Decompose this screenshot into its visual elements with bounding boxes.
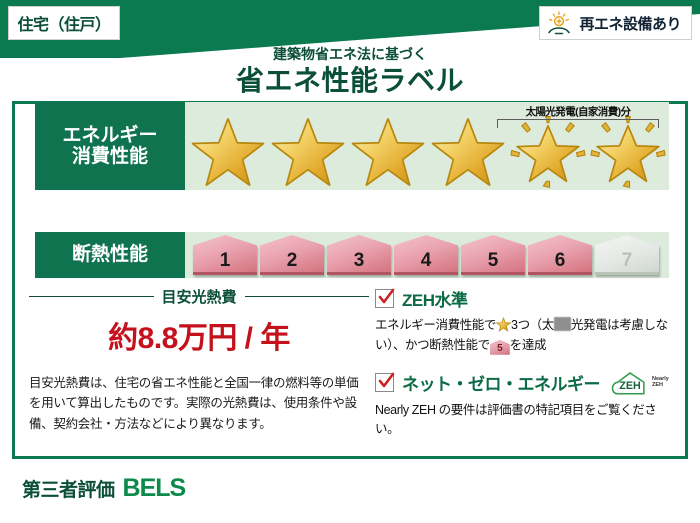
zeh-logo-sub: Nearly ZEH	[652, 377, 669, 389]
insulation-chip-4: 4	[394, 235, 458, 275]
net-zero-energy-block: ネット・ゼロ・エネルギー ZEH Nearly ZEH	[375, 370, 677, 441]
zeh-house-logo: ZEH Nearly ZEH	[610, 370, 669, 396]
solar-generation-note: 太陽光発電(自家消費)分	[493, 104, 663, 119]
inline-star-icon	[496, 317, 511, 332]
zeh-standard-checkbox[interactable]	[375, 289, 394, 308]
zeh-body-part3: を達成	[510, 338, 546, 352]
energy-performance-key: エネルギー 消費性能	[35, 102, 185, 190]
energy-performance-value: 太陽光発電(自家消費)分	[185, 102, 669, 190]
insulation-chip-7: 7	[595, 235, 659, 275]
zeh-standard-title: ZEH水準	[402, 286, 468, 311]
evaluation-info: 評価日 2026年3月6日 d05526cc-bf0a-4419	[552, 473, 688, 508]
check-icon	[377, 288, 395, 306]
rule-right	[245, 296, 370, 298]
zeh-body-part1: エネルギー消費性能で	[375, 318, 496, 332]
renewable-badge-label: 再エネ設備あり	[579, 13, 681, 34]
property-name: D-TOJO 202号室	[232, 479, 349, 499]
star-icon-solid-2	[269, 115, 347, 189]
utility-cost-column: 目安光熱費 約8.8万円 / 年 目安光熱費は、住宅の省エネ性能と全国一律の燃料…	[29, 286, 369, 434]
main-panel: エネルギー 消費性能 太陽光発電(自家消費)分	[12, 101, 688, 459]
utility-cost-note: 目安光熱費は、住宅の省エネ性能と全国一律の燃料等の単価を用いて算出したものです。…	[29, 373, 369, 434]
insulation-chip-1: 1	[193, 235, 257, 275]
rule-left	[29, 296, 154, 298]
redacted-character	[554, 317, 571, 331]
evaluation-date: 評価日 2026年3月6日	[552, 473, 688, 494]
solar-bracket	[497, 119, 659, 128]
energy-key-line1: エネルギー	[62, 125, 157, 146]
insulation-chip-5: 5	[461, 235, 525, 275]
star-icon-solid-3	[349, 115, 427, 189]
inline-insulation-chip: 5	[490, 340, 510, 355]
utility-cost-heading-label: 目安光熱費	[162, 286, 237, 307]
net-zero-checkbox[interactable]	[375, 373, 394, 392]
insulation-performance-value: 1 2 3 4 5 6 7	[185, 232, 669, 278]
insulation-performance-row: 断熱性能 1 2 3 4 5 6 7	[35, 224, 669, 286]
page-title: 省エネ性能ラベル	[0, 66, 700, 95]
label-title-block: 建築物省エネ法に基づく 省エネ性能ラベル	[0, 44, 700, 95]
insulation-chip-2: 2	[260, 235, 324, 275]
insulation-performance-key: 断熱性能	[35, 232, 185, 278]
zeh-logo-sub2: ZEH	[652, 382, 663, 388]
star-icon-solid-1	[189, 115, 267, 189]
renewable-equipment-badge: 再エネ設備あり	[539, 6, 692, 40]
zeh-standard-body: エネルギー消費性能で3つ（太光発電は考慮しない）、かつ断熱性能で5を達成	[375, 316, 677, 356]
bels-logo-text: BELS	[123, 474, 186, 503]
category-tab: 住宅（住戸）	[8, 6, 120, 40]
insulation-chip-3: 3	[327, 235, 391, 275]
energy-key-line2: 消費性能	[72, 146, 148, 167]
sun-solar-icon	[546, 11, 572, 35]
title-subtitle: 建築物省エネ法に基づく	[0, 44, 700, 64]
label-footer: 第三者評価 BELS D-TOJO 202号室 評価日 2026年3月6日 d0…	[0, 463, 700, 523]
check-icon	[377, 372, 395, 390]
details-section: 目安光熱費 約8.8万円 / 年 目安光熱費は、住宅の省エネ性能と全国一律の燃料…	[15, 286, 691, 456]
bels-jp-label: 第三者評価	[22, 475, 115, 502]
zeh-house-icon: ZEH	[610, 370, 650, 396]
evaluation-id: d05526cc-bf0a-4419	[552, 496, 688, 508]
insulation-grade-chips: 1 2 3 4 5 6 7	[185, 235, 659, 275]
zeh-body-star-count: 3つ（太	[511, 318, 554, 332]
insulation-chip-6: 6	[528, 235, 592, 275]
net-zero-title: ネット・ゼロ・エネルギー	[402, 370, 600, 395]
zeh-standard-header: ZEH水準	[375, 286, 677, 311]
svg-text:ZEH: ZEH	[619, 380, 641, 392]
energy-performance-label: 住宅（住戸） 再エネ設備あり 建築物省エネ法に基づく 省エネ性能ラベル	[0, 0, 700, 523]
zeh-standard-block: ZEH水準 エネルギー消費性能で3つ（太光発電は考慮しない）、かつ断熱性能で5を…	[375, 286, 677, 356]
bels-certification-box: 第三者評価 BELS	[12, 471, 195, 505]
net-zero-header: ネット・ゼロ・エネルギー ZEH Nearly ZEH	[375, 370, 677, 396]
utility-cost-amount: 約8.8万円 / 年	[29, 313, 369, 357]
utility-cost-heading: 目安光熱費	[29, 286, 369, 307]
zeh-column: ZEH水準 エネルギー消費性能で3つ（太光発電は考慮しない）、かつ断熱性能で5を…	[375, 286, 677, 454]
net-zero-body: Nearly ZEH の要件は評価書の特記項目をご覧ください。	[375, 401, 677, 441]
star-icon-solid-4	[429, 115, 507, 189]
energy-performance-row: エネルギー 消費性能 太陽光発電(自家消費)分	[35, 115, 669, 177]
